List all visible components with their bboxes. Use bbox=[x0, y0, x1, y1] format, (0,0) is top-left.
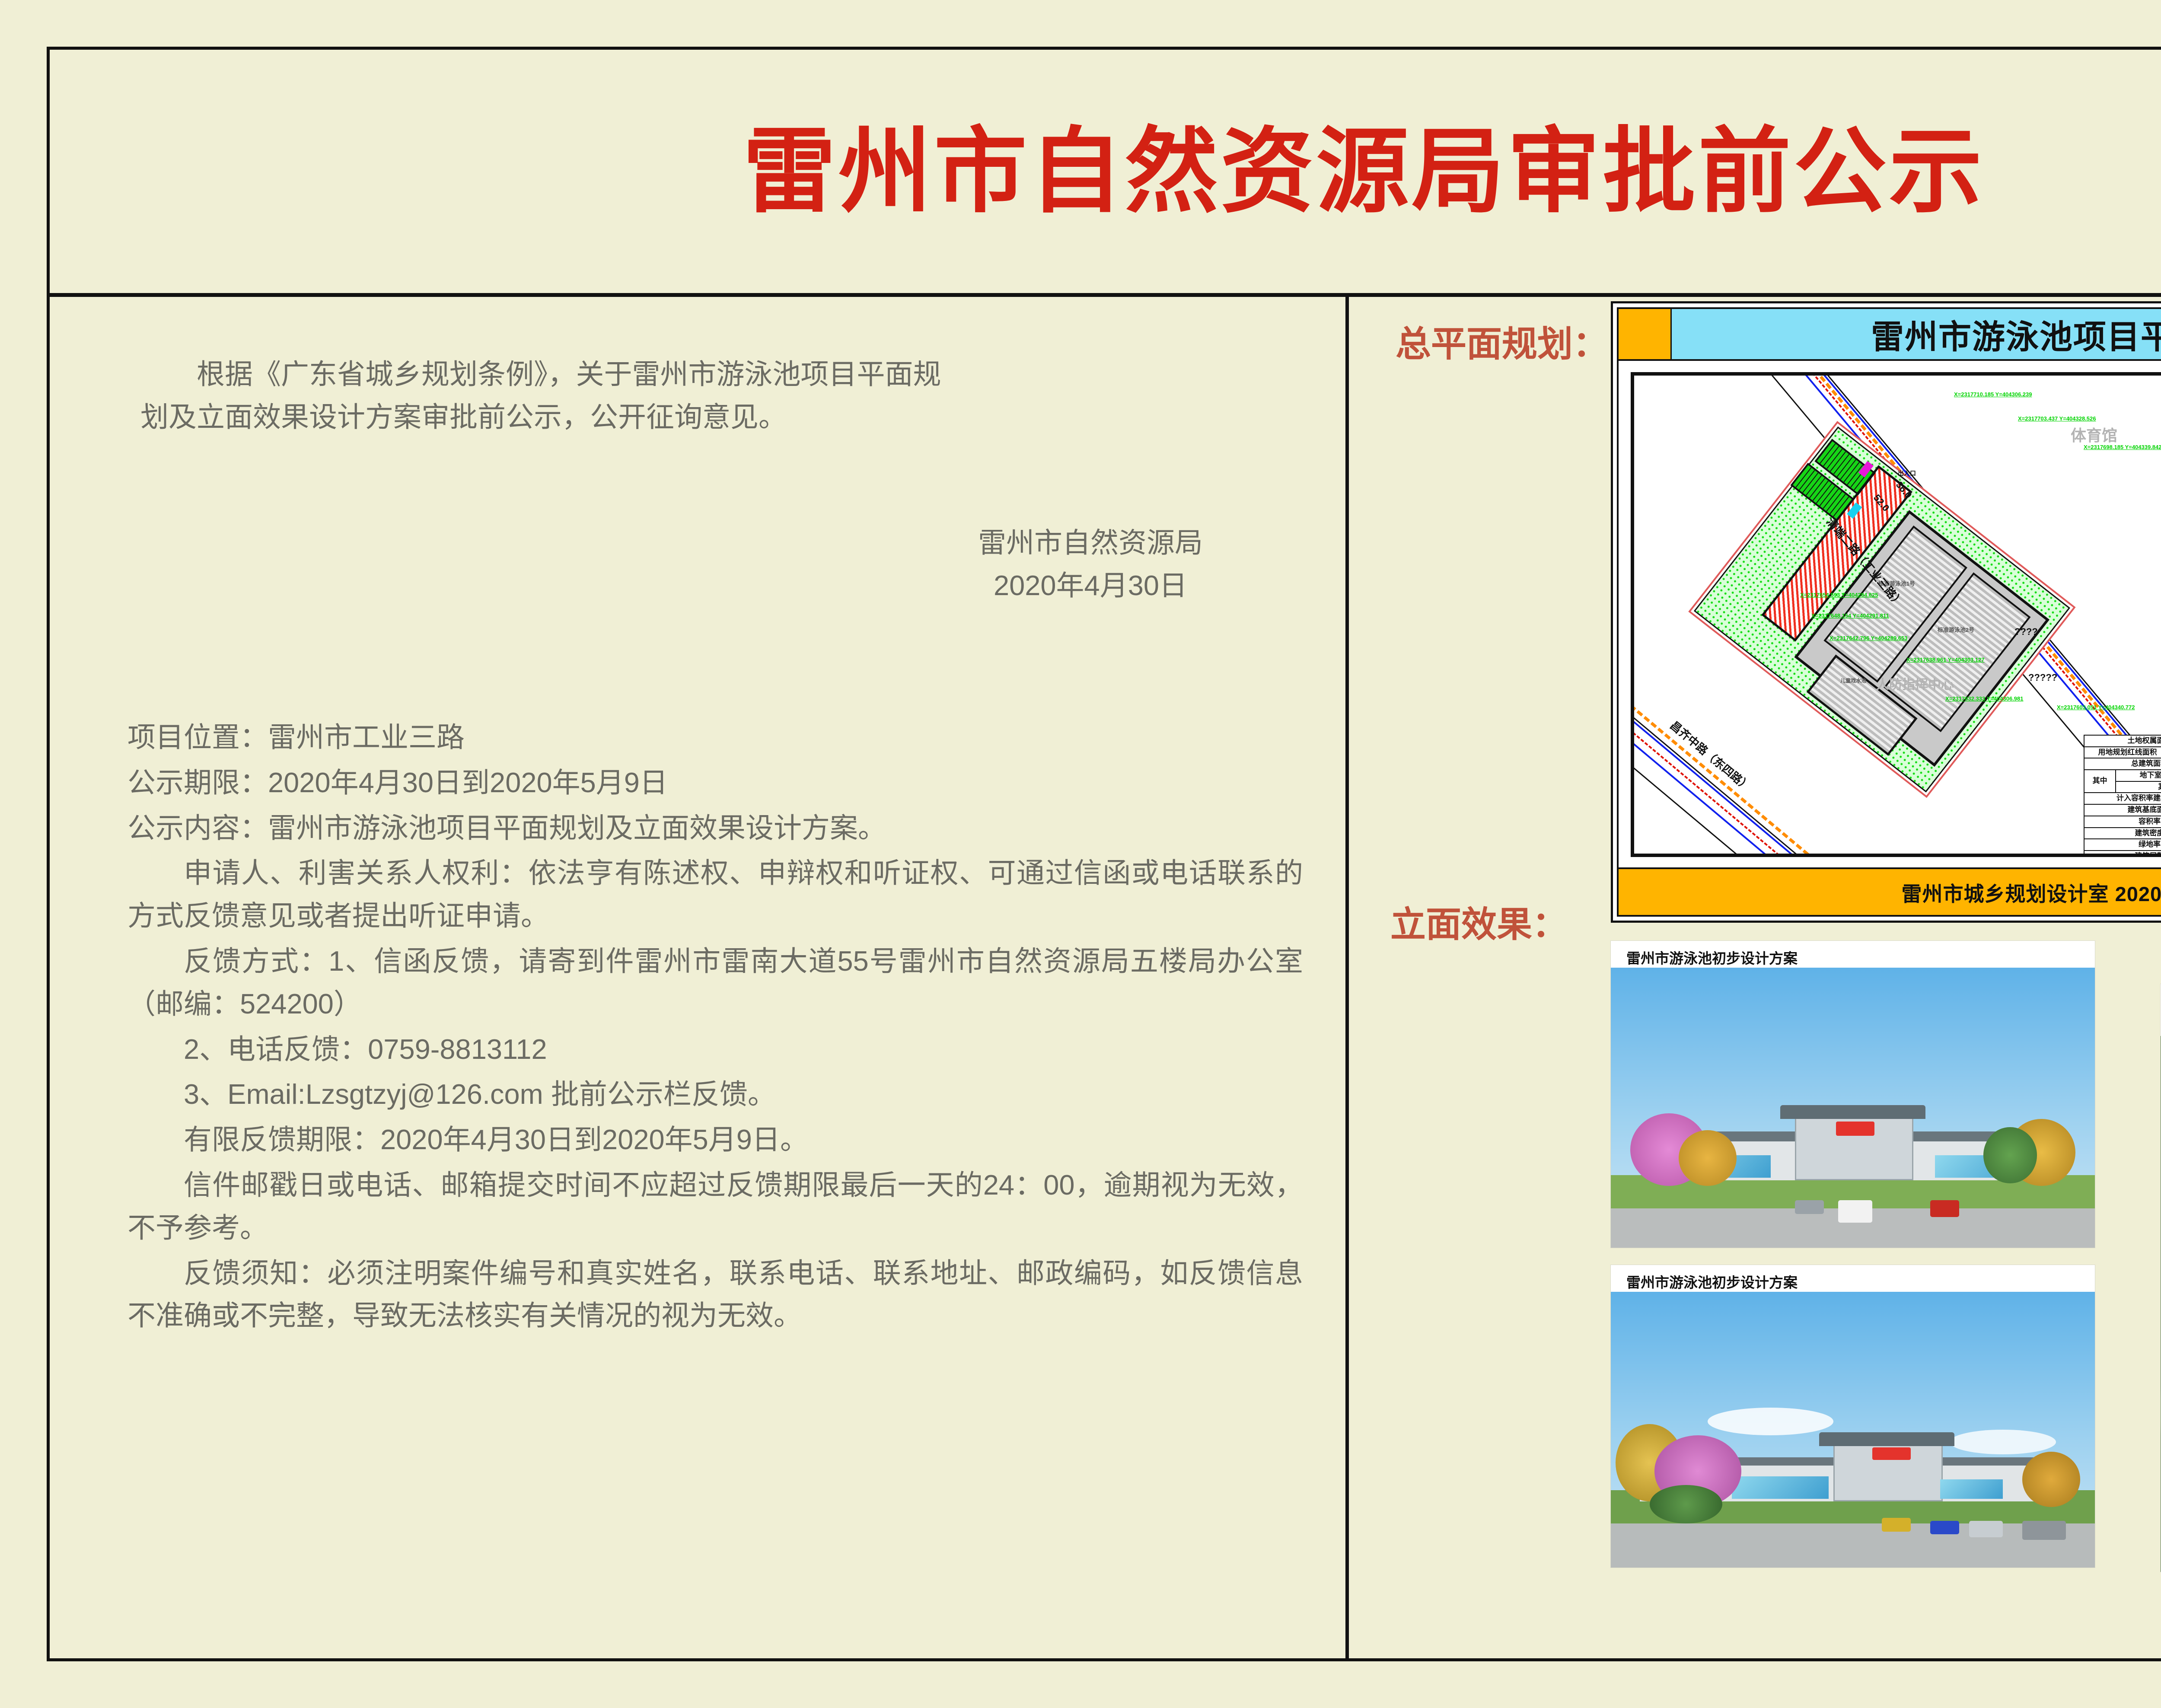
cloud bbox=[1708, 1408, 1833, 1435]
drawing-canvas: 标准游泳池1号 标准游泳池2号 儿童戏水池 清端二路（工业三路） 昌齐中路（东四… bbox=[1619, 361, 2161, 867]
poster-frame: 雷州市自然资源局审批前公示 根据《广东省城乡规划条例》，关于雷州市游泳池项目平面… bbox=[47, 47, 2161, 1661]
detail-item: 反馈方式：1、信函反馈，请寄到件雷州市雷南大道55号雷州市自然资源局五楼局办公室… bbox=[127, 940, 1303, 1026]
car-red bbox=[1930, 1200, 1959, 1217]
label-elevation: 立面效果： bbox=[1390, 895, 1568, 947]
page-title: 雷州市自然资源局审批前公示 bbox=[743, 125, 1985, 218]
body-area: 根据《广东省城乡规划条例》，关于雷州市游泳池项目平面规 划及立面效果设计方案审批… bbox=[50, 297, 2161, 1661]
economic-indicators: 主要技术经济指标 土地权属面积8000.00m²用地规划红线面积（计容面积）80… bbox=[2084, 715, 2161, 857]
econ-label: 建筑基底面积 bbox=[2084, 804, 2161, 816]
map-label-gym: 体育馆 bbox=[2071, 423, 2117, 446]
econ-label: 用地规划红线面积（计容面积） bbox=[2084, 747, 2161, 758]
elevation-render-b: 雷州市游泳池初步设计方案 bbox=[1611, 1265, 2095, 1568]
drawing-project-title: 雷州市游泳池项目平面规划 bbox=[1871, 310, 2161, 358]
econ-row: 容积率0.08 bbox=[2084, 816, 2161, 828]
title-strip-orange-left bbox=[1619, 309, 1672, 359]
map-label-pool2: 标准游泳池2号 bbox=[1938, 625, 1974, 634]
site-plan-drawing: 雷州市游泳池项目平面规划 bbox=[1611, 301, 2161, 923]
econ-label: 计入容积率建筑面积 bbox=[2084, 793, 2161, 804]
car-suv bbox=[2022, 1521, 2066, 1540]
econ-label: 建筑密度 bbox=[2084, 828, 2161, 839]
mural-left bbox=[1732, 1476, 1829, 1498]
econ-table: 土地权属面积8000.00m²用地规划红线面积（计容面积）8000.00m²总建… bbox=[2084, 735, 2161, 857]
detail-item: 反馈须知：必须注明案件编号和真实姓名，联系电话、联系地址、邮政编码，如反馈信息不… bbox=[127, 1252, 1303, 1338]
gate-roof bbox=[1780, 1105, 1925, 1119]
coord-callout: X=2317703.437 Y=404328.526 bbox=[2018, 415, 2096, 422]
econ-row: 土地权属面积8000.00m² bbox=[2084, 735, 2161, 747]
map-label-kidpool: 儿童戏水池 bbox=[1840, 677, 1866, 684]
notice-intro: 根据《广东省城乡规划条例》，关于雷州市游泳池项目平面规 划及立面效果设计方案审批… bbox=[140, 353, 1281, 439]
drawing-title-strip: 雷州市游泳池项目平面规划 bbox=[1619, 309, 2161, 361]
map-label-entrance: 出入口 bbox=[1898, 469, 1916, 478]
sign-board bbox=[1836, 1122, 1875, 1135]
render-caption: 雷州市游泳池初步设计方案 bbox=[1611, 941, 2095, 968]
render-caption: 雷州市游泳池初步设计方案 bbox=[1611, 1265, 2095, 1292]
econ-label: 总建筑面积 bbox=[2084, 758, 2161, 770]
sign-board bbox=[1872, 1447, 1911, 1460]
title-bar: 雷州市自然资源局审批前公示 bbox=[50, 50, 2161, 297]
render-scene bbox=[1611, 1292, 2095, 1568]
econ-row: 总建筑面积1201.59m² bbox=[2084, 758, 2161, 770]
econ-row: 建筑基底面积623.36m² bbox=[2084, 804, 2161, 816]
intro-line-2: 划及立面效果设计方案审批前公示，公开征询意见。 bbox=[140, 396, 1281, 439]
econ-table-title: 主要技术经济指标 bbox=[2084, 715, 2161, 731]
coord-callout: X=2317603.051 Y=404340.772 bbox=[2057, 704, 2135, 711]
label-site-plan: 总平面规划： bbox=[1396, 315, 1608, 366]
mural-right bbox=[1940, 1479, 2003, 1499]
map-label-civil-defense: 人防指挥中心 bbox=[1876, 674, 1954, 693]
coord-callout: X=2317638.961 Y=404303.127 bbox=[1906, 656, 1985, 663]
tree-yellow bbox=[1679, 1130, 1737, 1186]
car-silver bbox=[1795, 1200, 1824, 1214]
detail-item: 2、电话反馈：0759-8813112 bbox=[127, 1028, 1303, 1071]
elevation-render-a: 雷州市游泳池初步设计方案 bbox=[1611, 941, 2095, 1248]
coord-callout: X=2317710.185 Y=404306.239 bbox=[1954, 391, 2032, 398]
detail-item: 项目位置：雷州市工业三路 bbox=[127, 716, 1303, 759]
econ-label: 地下室建筑面积 bbox=[2116, 770, 2161, 781]
econ-row: 用地规划红线面积（计容面积）8000.00m² bbox=[2084, 747, 2161, 758]
signature-date: 2020年4月30日 bbox=[978, 564, 1203, 607]
detail-item: 公示期限：2020年4月30日到2020年5月9日 bbox=[127, 762, 1303, 804]
signature-agency: 雷州市自然资源局 bbox=[978, 522, 1203, 564]
shrub bbox=[1650, 1485, 1722, 1523]
plan-and-renders-column: 总平面规划： 立面效果： 雷州市游泳池项目平面规划 bbox=[1352, 297, 2161, 1661]
intro-line-1: 根据《广东省城乡规划条例》，关于雷州市游泳池项目平面规 bbox=[140, 353, 1281, 396]
econ-label: 土地权属面积 bbox=[2084, 735, 2161, 747]
car-blue bbox=[1930, 1521, 1959, 1535]
gate-roof bbox=[1819, 1432, 1955, 1446]
detail-item: 有限反馈期限：2020年4月30日到2020年5月9日。 bbox=[127, 1118, 1303, 1161]
econ-group-label: 其中 bbox=[2116, 781, 2161, 793]
render-scene bbox=[1611, 968, 2095, 1248]
title-strip-center: 雷州市游泳池项目平面规划 bbox=[1672, 309, 2161, 359]
econ-row: 建筑层数地下1层，地上1层 bbox=[2084, 851, 2161, 857]
designer-credit: 雷州市城乡规划设计室 2020.03 bbox=[1902, 877, 2161, 907]
coord-callout: X=2317698.185 Y=404339.842 bbox=[2084, 444, 2161, 450]
map-label-unknown-b: ????? bbox=[2028, 672, 2057, 683]
notice-details: 项目位置：雷州市工业三路 公示期限：2020年4月30日到2020年5月9日 公… bbox=[127, 716, 1303, 1340]
econ-row: 其中地下室建筑面积612.17m² bbox=[2084, 770, 2161, 781]
car-silver bbox=[1969, 1521, 2003, 1537]
detail-item: 申请人、利害关系人权利：依法亨有陈述权、申辩权和听证权、可通过信函或电话联系的方… bbox=[127, 852, 1303, 937]
site-plan-plot: 标准游泳池1号 标准游泳池2号 儿童戏水池 清端二路（工业三路） 昌齐中路（东四… bbox=[1631, 372, 2161, 857]
coord-callout: X=2317642.796 Y=404289.653 bbox=[1830, 635, 1908, 641]
econ-label: 绿地率 bbox=[2084, 839, 2161, 851]
econ-row: 建筑密度7.79% bbox=[2084, 828, 2161, 839]
coord-callout: X=2317654.593 Y=404284.825 bbox=[1800, 592, 1878, 598]
detail-item: 信件邮戳日或电话、邮箱提交时间不应超过反馈期限最后一天的24：00，逾期视为无效… bbox=[127, 1164, 1303, 1249]
tree-green bbox=[1983, 1127, 2037, 1183]
car-white bbox=[1838, 1200, 1872, 1223]
coord-callout: X=2317648.154 Y=404291.811 bbox=[1811, 612, 1889, 619]
coord-callout: X=2317632.333 Y=404306.981 bbox=[1945, 695, 2024, 702]
econ-row: 绿地率35% bbox=[2084, 839, 2161, 851]
econ-label: 建筑层数 bbox=[2084, 851, 2161, 857]
detail-item: 公示内容：雷州市游泳池项目平面规划及立面效果设计方案。 bbox=[127, 807, 1303, 850]
map-label-unknown-a: ???? bbox=[2014, 626, 2038, 637]
econ-group-label: 其中 bbox=[2084, 770, 2116, 793]
econ-label: 容积率 bbox=[2084, 816, 2161, 828]
detail-item: 3、Email:Lzsgtzyj@126.com 批前公示栏反馈。 bbox=[127, 1073, 1303, 1116]
car-yellow bbox=[1882, 1518, 1911, 1532]
notice-text-column: 根据《广东省城乡规划条例》，关于雷州市游泳池项目平面规 划及立面效果设计方案审批… bbox=[50, 297, 1349, 1661]
tree-orange bbox=[2022, 1452, 2080, 1507]
cloud bbox=[1950, 1430, 2056, 1454]
notice-signature-block: 雷州市自然资源局 2020年4月30日 bbox=[978, 522, 1203, 607]
econ-row: 计入容积率建筑面积629.05m² bbox=[2084, 793, 2161, 804]
drawing-footer: 雷州市城乡规划设计室 2020.03 bbox=[1619, 867, 2161, 915]
